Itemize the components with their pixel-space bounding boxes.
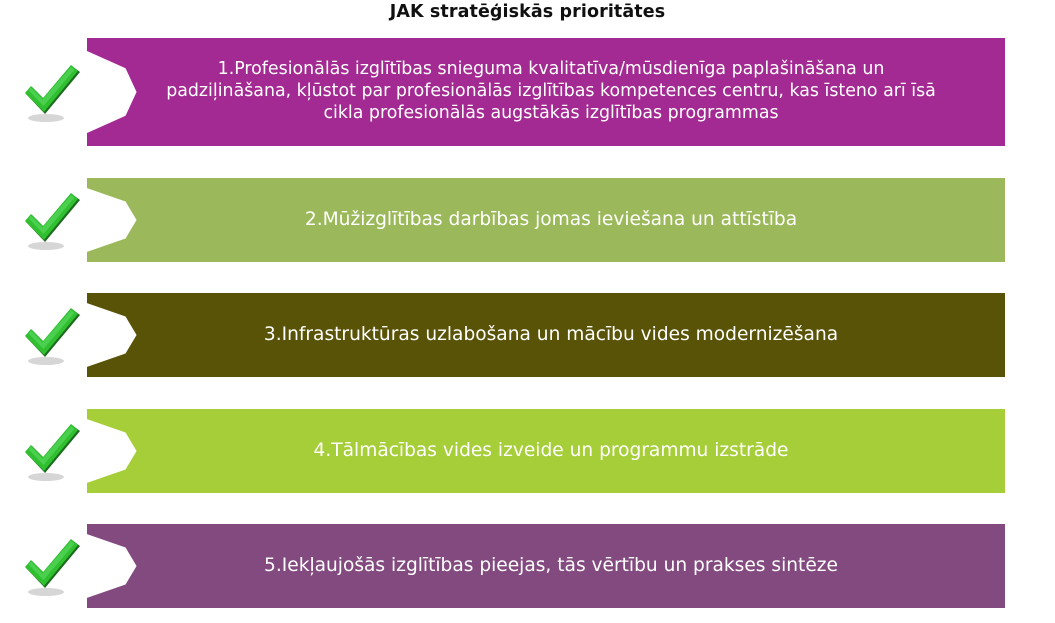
green-check-mark-icon bbox=[14, 182, 92, 260]
priority-row: 4.Tālmācības vides izveide un programmu … bbox=[0, 409, 1055, 495]
priority-banner-4-label: 4.Tālmācības vides izveide un programmu … bbox=[87, 440, 1005, 463]
green-check-mark-icon bbox=[14, 413, 92, 491]
priority-banner-2[interactable]: 2.Mūžizglītības darbības jomas ieviešana… bbox=[87, 178, 1005, 262]
slide-canvas: JAK stratēģiskās prioritātes 1.Profesion… bbox=[0, 0, 1055, 623]
priority-banner-1-label: 1.Profesionālās izglītības snieguma kval… bbox=[87, 59, 1005, 125]
green-check-mark-icon bbox=[14, 54, 92, 132]
priority-row: 2.Mūžizglītības darbības jomas ieviešana… bbox=[0, 178, 1055, 264]
green-check-mark-icon bbox=[14, 528, 92, 606]
priority-row: 5.Iekļaujošās izglītības pieejas, tās vē… bbox=[0, 524, 1055, 610]
priority-banner-1[interactable]: 1.Profesionālās izglītības snieguma kval… bbox=[87, 38, 1005, 146]
priority-banner-5-label: 5.Iekļaujošās izglītības pieejas, tās vē… bbox=[87, 555, 1005, 578]
priority-banner-5[interactable]: 5.Iekļaujošās izglītības pieejas, tās vē… bbox=[87, 524, 1005, 608]
page-title: JAK stratēģiskās prioritātes bbox=[0, 2, 1055, 22]
green-check-mark-icon bbox=[14, 297, 92, 375]
priority-row: 1.Profesionālās izglītības snieguma kval… bbox=[0, 38, 1055, 148]
priority-banner-2-label: 2.Mūžizglītības darbības jomas ieviešana… bbox=[87, 209, 1005, 232]
priority-row: 3.Infrastruktūras uzlabošana un mācību v… bbox=[0, 293, 1055, 379]
priority-banner-4[interactable]: 4.Tālmācības vides izveide un programmu … bbox=[87, 409, 1005, 493]
priority-banner-3-label: 3.Infrastruktūras uzlabošana un mācību v… bbox=[87, 324, 1005, 347]
priority-banner-3[interactable]: 3.Infrastruktūras uzlabošana un mācību v… bbox=[87, 293, 1005, 377]
